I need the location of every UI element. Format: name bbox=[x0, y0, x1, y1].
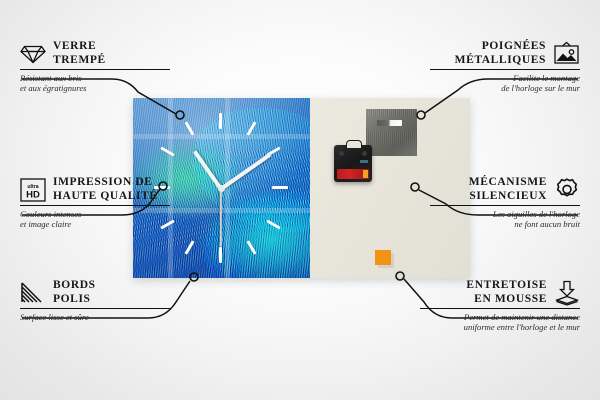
feature-bords-polis[interactable]: BORDSPOLIS Surface lisse et sûre bbox=[20, 279, 170, 322]
feature-subtitle: Facilite le montagede l'horloge sur le m… bbox=[430, 73, 580, 94]
feature-title: IMPRESSION DEHAUTE QUALITÉ bbox=[53, 176, 158, 203]
diamond-icon bbox=[20, 43, 46, 65]
feature-impression-haute-qualite[interactable]: ultra HD IMPRESSION DEHAUTE QUALITÉ Coul… bbox=[20, 176, 170, 230]
feature-subtitle: Surface lisse et sûre bbox=[20, 312, 170, 323]
down-arrow-pad-icon bbox=[554, 280, 580, 305]
battery-terminal bbox=[363, 170, 368, 178]
gear-icon bbox=[554, 177, 580, 202]
battery bbox=[337, 169, 369, 179]
feature-title: VERRETREMPÉ bbox=[53, 40, 106, 67]
polished-edges-icon bbox=[20, 281, 46, 305]
feature-entretoise-en-mousse[interactable]: ENTRETOISEEN MOUSSE Permet de maintenir … bbox=[420, 279, 580, 333]
infographic-canvas: VERRETREMPÉ Résistant aux briset aux égr… bbox=[0, 0, 600, 400]
hanger-slot bbox=[377, 120, 402, 126]
feature-title: MÉCANISMESILENCIEUX bbox=[430, 176, 547, 203]
clock-tick bbox=[219, 113, 222, 129]
feature-mecanisme-silencieux[interactable]: MÉCANISMESILENCIEUX Les aiguilles de l'h… bbox=[430, 176, 580, 230]
picture-frame-hanger-icon bbox=[553, 41, 580, 66]
svg-text:HD: HD bbox=[26, 189, 40, 200]
feature-title: POIGNÉESMÉTALLIQUES bbox=[430, 40, 546, 67]
feature-title: BORDSPOLIS bbox=[53, 279, 96, 306]
feature-subtitle: Permet de maintenir une distanceuniforme… bbox=[420, 312, 580, 333]
clock-second-hand bbox=[220, 189, 222, 247]
clock-tick bbox=[219, 247, 222, 263]
feature-poignees-metalliques[interactable]: POIGNÉESMÉTALLIQUES Facilite le montaged… bbox=[430, 40, 580, 94]
feature-subtitle: Résistant aux briset aux égratignures bbox=[20, 73, 170, 94]
mechanism-hook bbox=[346, 140, 362, 148]
clock-tick bbox=[272, 186, 288, 189]
foam-spacer bbox=[375, 250, 391, 265]
feature-subtitle: Les aiguilles de l'horlogene font aucun … bbox=[430, 209, 580, 230]
clock-mechanism bbox=[334, 145, 372, 182]
feature-subtitle: Couleurs intenseset image claire bbox=[20, 209, 170, 230]
product-image bbox=[133, 98, 470, 278]
feature-title: ENTRETOISEEN MOUSSE bbox=[420, 279, 547, 306]
metal-hanger-plate bbox=[366, 109, 417, 156]
ultra-hd-icon: ultra HD bbox=[20, 178, 46, 202]
feature-verre-trempe[interactable]: VERRETREMPÉ Résistant aux briset aux égr… bbox=[20, 40, 170, 94]
clock-center-cap bbox=[218, 185, 225, 192]
